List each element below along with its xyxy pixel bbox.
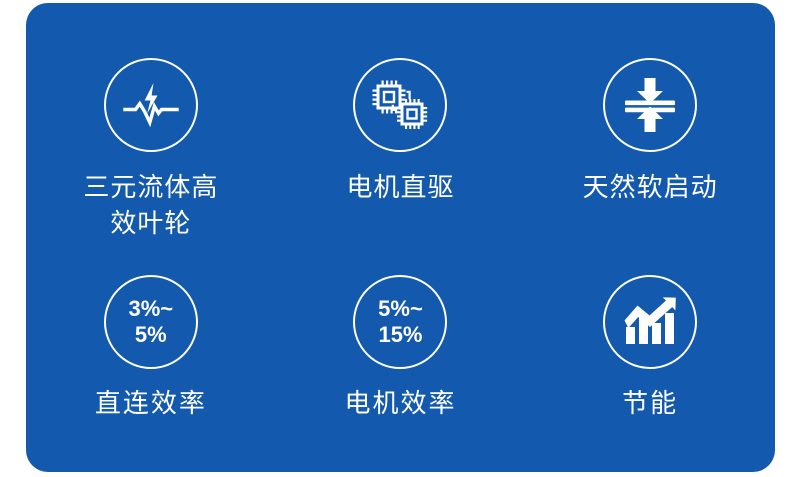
feature-card-soft-start[interactable]: 天然软启动 [525,3,775,241]
feature-label-impeller: 三元流体高 效叶轮 [83,169,218,241]
feature-card-energy-saving[interactable]: 节能 [525,241,775,472]
feature-value-direct-connect-efficiency: 3%~ 5% [129,296,174,348]
feature-badge-impeller [104,58,198,152]
feature-label-motor-efficiency: 电机效率 [344,385,456,421]
feature-value-line1: 5%~ [378,296,423,321]
feature-value-line1: 3%~ [129,296,174,321]
feature-label-line1: 三元流体高 [83,172,218,202]
feature-value-line2: 5% [129,322,174,348]
feature-badge-direct-connect-efficiency: 3%~ 5% [104,275,198,369]
feature-label-direct-connect-efficiency: 直连效率 [95,385,207,421]
feature-card-motor-efficiency[interactable]: 5%~ 15% 电机效率 [276,241,526,472]
feature-badge-motor-efficiency: 5%~ 15% [353,275,447,369]
feature-label-soft-start: 天然软启动 [583,169,718,205]
bar-chart-arrow-up-icon [622,297,678,347]
feature-label-direct-drive: 电机直驱 [346,169,454,205]
feature-value-motor-efficiency: 5%~ 15% [378,296,423,348]
feature-card-impeller[interactable]: 三元流体高 效叶轮 [26,3,276,241]
feature-badge-direct-drive [353,58,447,152]
dual-chip-icon [372,78,428,132]
compress-arrows-icon [624,76,676,134]
feature-panel: 三元流体高 效叶轮 [26,3,775,472]
feature-value-line2: 15% [378,322,423,348]
feature-badge-soft-start [603,58,697,152]
feature-label-energy-saving: 节能 [622,385,678,421]
feature-label-line2: 效叶轮 [110,208,191,238]
pulse-bolt-icon [122,80,180,130]
feature-card-direct-connect-efficiency[interactable]: 3%~ 5% 直连效率 [26,241,276,472]
feature-grid: 三元流体高 效叶轮 [26,3,775,472]
screenshot-stage: 三元流体高 效叶轮 [0,0,800,477]
feature-card-direct-drive[interactable]: 电机直驱 [276,3,526,241]
feature-badge-energy-saving [603,275,697,369]
